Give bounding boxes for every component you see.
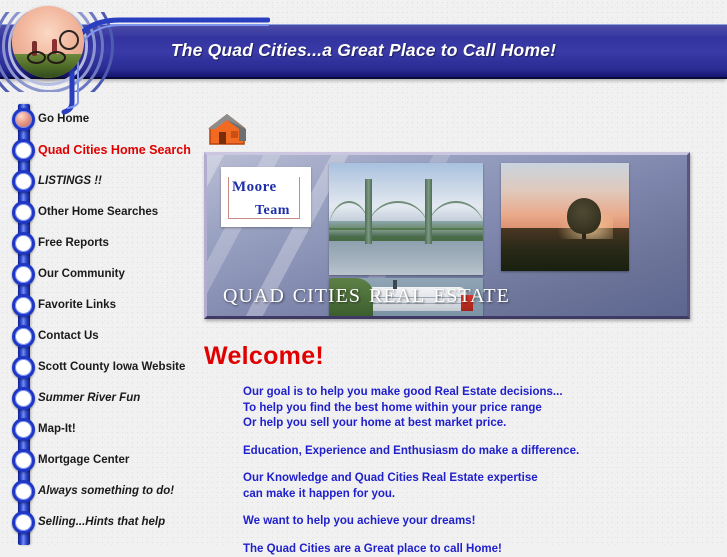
sidebar-item-label: Selling...Hints that help [38,507,165,538]
sidebar-item-selling-hints-that-help[interactable]: Selling...Hints that help [0,507,195,538]
sidebar-item-label: Map-It! [38,414,76,445]
sidebar-item-label: Always something to do! [38,476,174,507]
moore-team-logo: Moore Team [221,167,311,227]
sidebar-item-favorite-links[interactable]: Favorite Links [0,290,195,321]
sidebar-item-label: Scott County Iowa Website [38,352,185,383]
sidebar-item-our-community[interactable]: Our Community [0,259,195,290]
sidebar-item-other-home-searches[interactable]: Other Home Searches [0,197,195,228]
sidebar-item-listings[interactable]: LISTINGS !! [0,166,195,197]
sidebar-item-mortgage-center[interactable]: Mortgage Center [0,445,195,476]
logo-line-1: Moore [232,179,277,196]
nav-bullet-active-icon [12,108,35,131]
nav-bullet-icon [12,449,35,472]
sidebar-item-label: Contact Us [38,321,99,352]
nav-bullet-icon [12,294,35,317]
sidebar-item-summer-river-fun[interactable]: Summer River Fun [0,383,195,414]
sidebar-item-quad-cities-home-search[interactable]: Quad Cities Home Search [0,135,195,166]
centennial-bridge-photo [329,163,483,275]
sidebar-item-label: Summer River Fun [38,383,140,414]
paragraph: Our Knowledge and Quad Cities Real Estat… [243,471,663,502]
nav-bullet-icon [12,325,35,348]
sidebar-item-go-home[interactable]: Go Home [0,104,195,135]
nav-bullet-icon [12,387,35,410]
nav-bullet-icon [12,511,35,534]
banner-title: QUAD CITIES REAL ESTATE [223,278,679,310]
paragraph: Education, Experience and Enthusiasm do … [243,444,663,460]
nav-bullet-icon [12,232,35,255]
sidebar-item-label: LISTINGS !! [38,166,102,197]
sidebar-navigation: Go HomeQuad Cities Home SearchLISTINGS !… [0,104,195,545]
nav-bullet-icon [12,480,35,503]
orange-house-icon[interactable] [206,110,250,148]
welcome-heading: Welcome! [204,342,324,371]
sunset-tree-photo [501,163,629,271]
nav-bullet-icon [12,356,35,379]
sidebar-item-free-reports[interactable]: Free Reports [0,228,195,259]
sidebar-item-label: Go Home [38,104,89,135]
paragraph: We want to help you achieve your dreams! [243,514,663,530]
page-title: The Quad Cities...a Great Place to Call … [0,24,727,76]
sidebar-item-map-it[interactable]: Map-It! [0,414,195,445]
nav-bullet-icon [12,418,35,441]
page-header: The Quad Cities...a Great Place to Call … [0,0,727,104]
paragraph: Our goal is to help you make good Real E… [243,385,663,432]
paragraph: The Quad Cities are a Great place to cal… [243,542,663,557]
sidebar-item-label: Other Home Searches [38,197,158,228]
sidebar-item-always-something-to-do[interactable]: Always something to do! [0,476,195,507]
sidebar-item-label: Favorite Links [38,290,116,321]
nav-bullet-icon [12,139,35,162]
logo-line-2: Team [255,203,290,219]
sidebar-item-label: Free Reports [38,228,109,259]
nav-bullet-icon [12,263,35,286]
nav-bullet-icon [12,170,35,193]
sidebar-item-contact-us[interactable]: Contact Us [0,321,195,352]
sidebar-item-label: Mortgage Center [38,445,129,476]
cyclists-at-sunset-photo [12,6,84,78]
quad-cities-real-estate-banner: Moore Team QUAD CITIES REAL ESTA [204,152,690,319]
main-content: Moore Team QUAD CITIES REAL ESTA [195,104,727,545]
nav-bullet-icon [12,201,35,224]
sidebar-item-label: Our Community [38,259,125,290]
welcome-body-copy: Our goal is to help you make good Real E… [243,385,663,557]
sidebar-item-scott-county-iowa-website[interactable]: Scott County Iowa Website [0,352,195,383]
sidebar-item-label: Quad Cities Home Search [38,135,191,166]
